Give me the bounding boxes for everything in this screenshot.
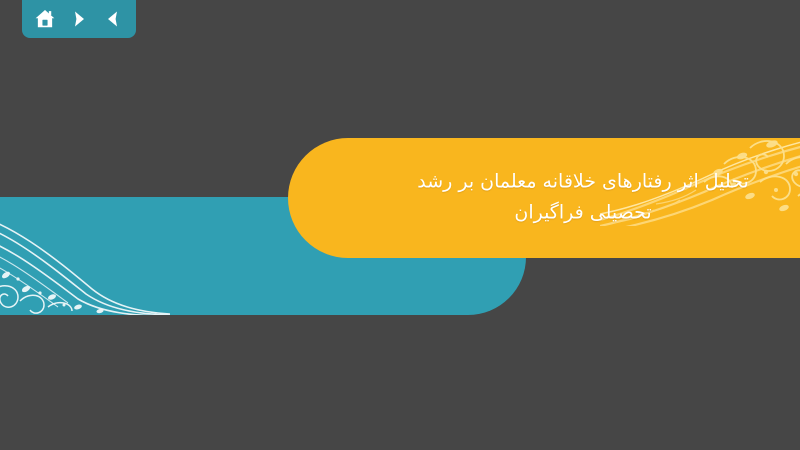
title-line-1: تحلیل اثر رفتارهای خلاقانه معلمان بر رشد bbox=[368, 167, 798, 198]
back-button[interactable] bbox=[98, 4, 128, 34]
title-line-2: تحصیلی فراگیران bbox=[368, 198, 798, 229]
home-button[interactable] bbox=[30, 4, 60, 34]
back-arrow-icon bbox=[103, 9, 123, 29]
home-icon bbox=[34, 8, 56, 30]
arabesque-ornament-teal bbox=[0, 197, 170, 315]
orange-banner: تحلیل اثر رفتارهای خلاقانه معلمان بر رشد… bbox=[288, 138, 800, 258]
slide-title: تحلیل اثر رفتارهای خلاقانه معلمان بر رشد… bbox=[368, 167, 798, 230]
presentation-slide: تحلیل اثر رفتارهای خلاقانه معلمان بر رشد… bbox=[0, 0, 800, 450]
navigation-bar bbox=[22, 0, 136, 38]
forward-button[interactable] bbox=[64, 4, 94, 34]
forward-arrow-icon bbox=[69, 9, 89, 29]
